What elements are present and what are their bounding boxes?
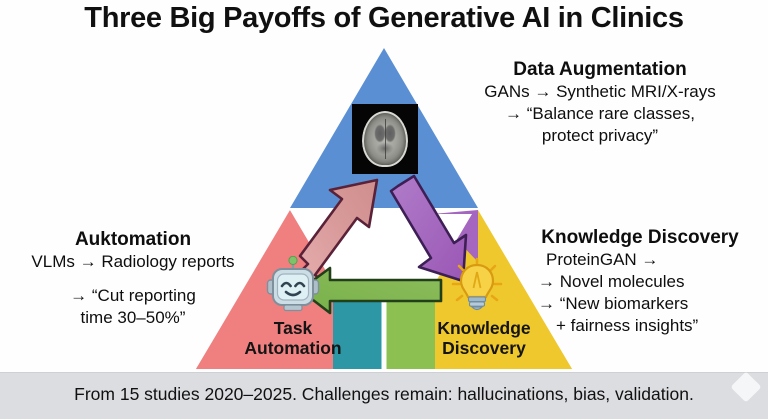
callout-automation: Auktomation VLMs → Radiology reports → “… xyxy=(2,228,264,329)
callout-data-augmentation-line3: protect privacy” xyxy=(432,125,768,147)
robot-icon xyxy=(265,256,321,314)
callout-knowledge-discovery-heading: Knowledge Discovery xyxy=(512,226,768,249)
callout-knowledge-discovery-line4: + fairness insights” xyxy=(512,315,768,337)
callout-automation-line1: VLMs → Radiology reports xyxy=(2,251,264,273)
callout-knowledge-discovery-line3: → “New biomarkers xyxy=(512,293,768,315)
callout-data-augmentation-line1: GANs → Synthetic MRI/X-rays xyxy=(432,81,768,103)
callout-data-augmentation-line2: → “Balance rare classes, xyxy=(432,103,768,125)
mri-brain-render xyxy=(362,111,408,167)
callout-knowledge-discovery-line2: → Novel molecules xyxy=(512,271,768,293)
callout-automation-line3: time 30–50%” xyxy=(2,307,264,329)
callout-data-augmentation: Data Augmentation GANs → Synthetic MRI/X… xyxy=(432,58,768,147)
callout-automation-heading: Auktomation xyxy=(2,228,264,251)
callout-knowledge-discovery: Knowledge Discovery ProteinGAN → → Novel… xyxy=(512,226,768,338)
infographic-page: Three Big Payoffs of Generative AI in Cl… xyxy=(0,0,768,419)
callout-automation-spacer xyxy=(2,273,264,285)
callout-automation-line2: → “Cut reporting xyxy=(2,285,264,307)
footer-bar: From 15 studies 2020–2025. Challenges re… xyxy=(0,372,768,419)
callout-knowledge-discovery-line1: ProteinGAN → xyxy=(512,249,768,271)
callout-data-augmentation-heading: Data Augmentation xyxy=(432,58,768,81)
node-label-task-automation-line2: Automation xyxy=(218,338,368,358)
footer-caption: From 15 studies 2020–2025. Challenges re… xyxy=(0,384,768,405)
lightbulb-icon xyxy=(449,257,505,317)
mri-brain-icon xyxy=(352,104,418,174)
node-label-knowledge-discovery-line2: Discovery xyxy=(404,338,564,358)
